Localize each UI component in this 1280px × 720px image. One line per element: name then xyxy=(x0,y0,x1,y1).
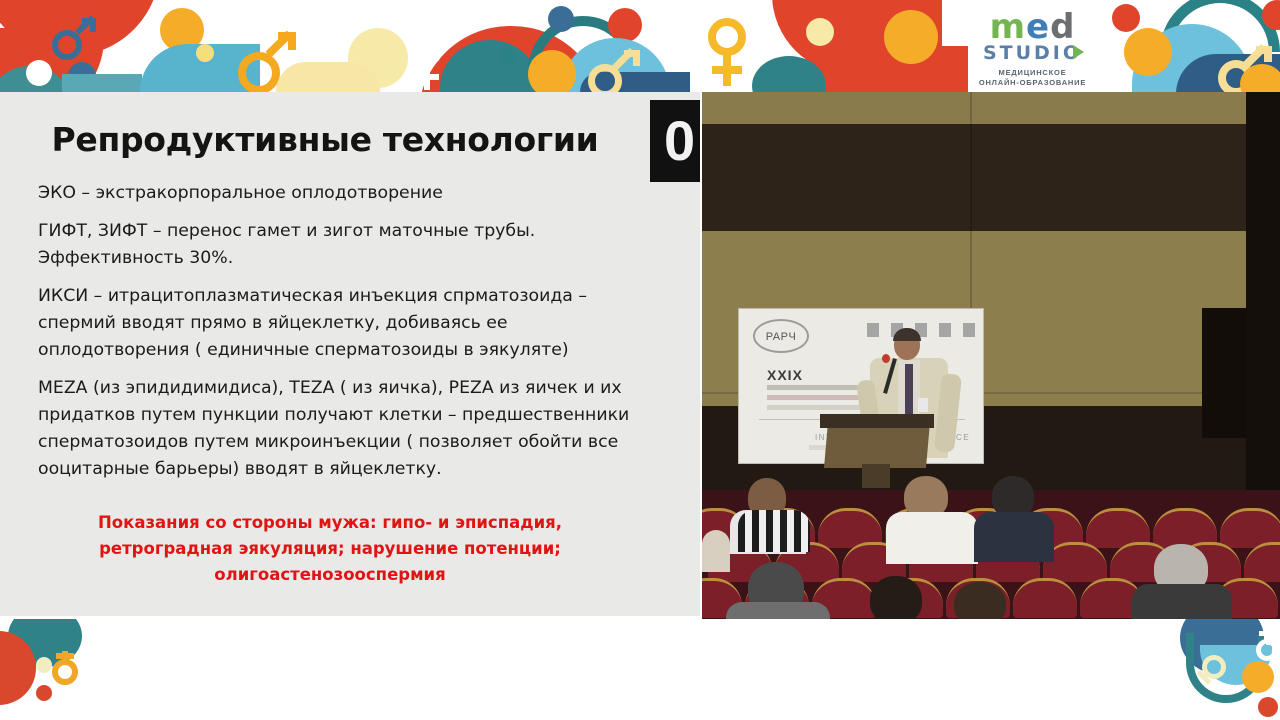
decor-male-symbol-blue xyxy=(52,18,98,64)
medstudio-wordmark: med xyxy=(945,12,1120,42)
sponsor-logo-icon xyxy=(939,323,951,337)
highlight-line: Показания со стороны мужа: гипо- и эписп… xyxy=(30,510,630,536)
decor-female-symbol-teal xyxy=(1196,655,1228,695)
decor-orange-circle xyxy=(1124,28,1172,76)
stage-banner-sponsor-icons xyxy=(867,323,975,337)
audience-person xyxy=(974,512,1054,562)
video-player[interactable]: РАРЧ XXIX INTERNATIONAL CONFERENCE xyxy=(702,92,1280,619)
decor-male-symbol-pale xyxy=(588,52,644,92)
decor-orange-circle xyxy=(884,10,938,64)
decor-pale-yellow-wedge xyxy=(276,62,380,92)
medstudio-studio-row: STUDIO xyxy=(983,42,1082,64)
slide-paragraph: MEZA (из эпидидимидиса), TEZA ( из яичка… xyxy=(38,375,658,483)
decor-female-symbol-yellow xyxy=(708,18,752,88)
slide-highlight-block: Показания со стороны мужа: гипо- и эписп… xyxy=(30,510,630,588)
logo-studio-text: STUDIO xyxy=(983,42,1082,64)
audience-head xyxy=(954,582,1006,619)
presentation-slide[interactable]: Репродуктивные технологии 0 ЭКО – экстра… xyxy=(0,92,700,616)
audience-head xyxy=(870,576,922,619)
highlight-line: олигоастенозооспермия xyxy=(30,562,630,588)
logo-letter-d: d xyxy=(1050,7,1075,47)
decor-female-symbol-white xyxy=(412,36,448,92)
wall-dark-panel xyxy=(1202,308,1246,438)
slide-title: Репродуктивные технологии xyxy=(0,120,650,159)
audience-person xyxy=(1132,584,1232,619)
audience-person xyxy=(726,602,830,619)
decor-small-yellow-dot xyxy=(196,44,214,62)
seat xyxy=(1244,542,1280,582)
audience-person xyxy=(702,530,730,572)
medstudio-subtitle-line2: ОНЛАЙН-ОБРАЗОВАНИЕ xyxy=(945,78,1120,88)
play-triangle-icon xyxy=(1073,45,1084,59)
logo-letter-m: m xyxy=(990,7,1026,47)
podium-top xyxy=(820,414,934,428)
decor-teal-wedge xyxy=(62,74,142,92)
sponsor-logo-icon xyxy=(963,323,975,337)
top-decorative-banner: med STUDIO МЕДИЦИНСКОЕ ОНЛАЙН-ОБРАЗОВАНИ… xyxy=(0,0,1280,92)
seat xyxy=(1013,578,1077,618)
wall-dark-band xyxy=(702,124,1280,231)
medstudio-subtitle-line1: МЕДИЦИНСКОЕ xyxy=(945,68,1120,78)
decor-orange-circle xyxy=(528,50,576,92)
slide-paragraph: ЭКО – экстракорпоральное оплодотворение xyxy=(38,180,658,207)
decor-red-dot xyxy=(36,685,52,701)
highlight-line: ретроградная эякуляция; нарушение потенц… xyxy=(30,536,630,562)
speaker-badge xyxy=(918,398,928,412)
speaker-tie xyxy=(905,364,913,416)
decor-red-dot xyxy=(608,8,642,42)
medstudio-logo[interactable]: med STUDIO МЕДИЦИНСКОЕ ОНЛАЙН-ОБРАЗОВАНИ… xyxy=(945,12,1120,82)
decor-red-dot xyxy=(1112,4,1140,32)
slide-paragraph: ГИФТ, ЗИФТ – перенос гамет и зигот маточ… xyxy=(38,218,658,272)
decor-teal-dot xyxy=(500,48,516,64)
decor-female-symbol-orange xyxy=(50,651,82,699)
slide-paragraph: ИКСИ – итрацитоплазматическая инъекция с… xyxy=(38,283,658,364)
sponsor-logo-icon xyxy=(867,323,879,337)
audience-person-striped xyxy=(738,510,810,552)
logo-letter-e: e xyxy=(1026,7,1050,47)
slide-page-number: 0 xyxy=(650,100,700,182)
slide-body: ЭКО – экстракорпоральное оплодотворение … xyxy=(38,180,658,494)
stage-banner-logo: РАРЧ xyxy=(753,319,809,353)
bottom-banner: РАРЧ XXIX ЕЖЕГОДНАЯ МЕЖДУНАРОДНАЯ КОНФЕР… xyxy=(0,619,1280,720)
decor-female-symbol-white xyxy=(1256,627,1280,669)
wall-upper xyxy=(702,92,1280,124)
decor-white-circle xyxy=(26,60,52,86)
microphone-head-icon xyxy=(882,354,890,363)
podium-stem xyxy=(862,464,890,488)
decor-pale-yellow-circle xyxy=(806,18,834,46)
decor-red-dot xyxy=(1258,697,1278,717)
audience-person xyxy=(886,512,978,564)
decor-red-arc xyxy=(808,46,968,92)
podium xyxy=(824,422,930,468)
decor-steelblue-dot xyxy=(548,6,574,32)
webinar-screen: med STUDIO МЕДИЦИНСКОЕ ОНЛАЙН-ОБРАЗОВАНИ… xyxy=(0,0,1280,720)
stage-banner-roman: XXIX xyxy=(767,367,803,383)
medstudio-subtitle: МЕДИЦИНСКОЕ ОНЛАЙН-ОБРАЗОВАНИЕ xyxy=(945,68,1120,88)
